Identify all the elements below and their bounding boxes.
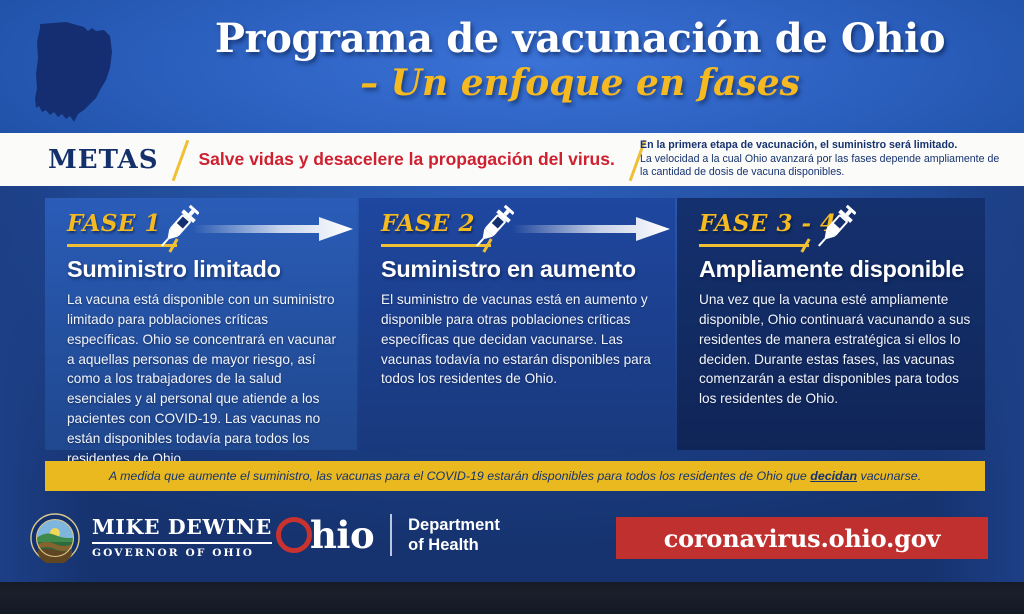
phase-body-1: La vacuna está disponible con un suminis… — [67, 290, 343, 469]
phase-heading-3: Ampliamente disponible — [699, 256, 969, 283]
governor-title: GOVERNOR OF OHIO — [92, 548, 272, 559]
coronavirus-url-label: coronavirus.ohio.gov — [664, 524, 941, 553]
goals-note: En la primera etapa de vacunación, el su… — [640, 139, 1000, 180]
diagonal-divider-left-icon — [168, 137, 194, 183]
ohio-department-of-health-logo: hio Department of Health — [276, 514, 500, 556]
governor-divider — [92, 542, 272, 544]
phase-heading-1: Suministro limitado — [67, 256, 341, 283]
callout-text-before: A medida que aumente el suministro, las … — [109, 469, 810, 483]
poster-title: Programa de vacunación de Ohio — [150, 18, 1010, 60]
goals-label: METAS — [48, 145, 158, 175]
supply-callout-text: A medida que aumente el suministro, las … — [109, 469, 921, 483]
ohio-state-outline-icon — [26, 18, 118, 126]
goals-bar: METAS Salve vidas y desacelere la propag… — [0, 133, 1024, 186]
title-block: Programa de vacunación de Ohio – Un enfo… — [150, 18, 1010, 105]
goals-note-bold: En la primera etapa de vacunación, el su… — [640, 139, 1000, 153]
odh-department-line2: of Health — [408, 535, 500, 555]
supply-callout-banner: A medida que aumente el suministro, las … — [45, 461, 985, 491]
ohio-wordmark: hio — [276, 517, 374, 554]
callout-text-after: vacunarse. — [857, 469, 921, 483]
poster-subtitle: – Un enfoque en fases — [150, 62, 1010, 104]
phase-rule-3 — [699, 240, 827, 253]
progress-arrow-1-icon — [193, 216, 353, 242]
goals-note-rest: La velocidad a la cual Ohio avanzará por… — [640, 153, 1000, 180]
odh-department-label: Department of Health — [408, 515, 500, 556]
governor-name: MIKE DEWINE — [92, 517, 272, 538]
poster-header: Programa de vacunación de Ohio – Un enfo… — [0, 0, 1024, 133]
ohio-wordmark-text: hio — [310, 517, 374, 554]
governor-text: MIKE DEWINE GOVERNOR OF OHIO — [92, 517, 272, 558]
syringe-icon-3 — [812, 200, 856, 252]
governor-logo: MIKE DEWINE GOVERNOR OF OHIO — [30, 513, 272, 563]
syringe-icon-2 — [470, 200, 514, 252]
coronavirus-url-button[interactable]: coronavirus.ohio.gov — [616, 517, 988, 559]
phase-heading-2: Suministro en aumento — [381, 256, 659, 283]
progress-arrow-2-icon — [512, 216, 670, 242]
ohio-state-seal-icon — [30, 513, 80, 563]
phase-body-3: Una vez que la vacuna esté ampliamente d… — [699, 290, 971, 409]
bottom-band — [0, 582, 1024, 614]
ohio-o-ring-icon — [276, 517, 312, 553]
callout-emphasis: decidan — [810, 469, 857, 483]
phase-body-2: El suministro de vacunas está en aumento… — [381, 290, 661, 389]
odh-department-line1: Department — [408, 515, 500, 535]
vaccine-phases-infographic: Programa de vacunación de Ohio – Un enfo… — [0, 0, 1024, 614]
goals-slogan: Salve vidas y desacelere la propagación … — [198, 149, 614, 170]
odh-divider — [390, 514, 392, 556]
phase-panels: FASE 1 Suministro limitado La vacuna est… — [0, 198, 1024, 450]
